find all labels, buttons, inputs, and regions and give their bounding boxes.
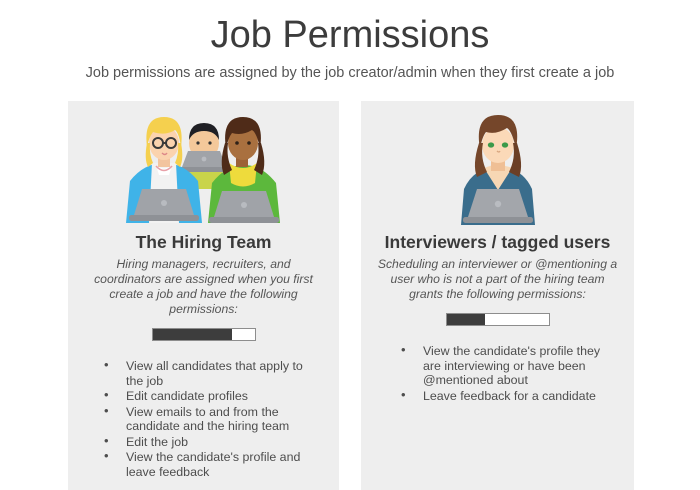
permission-list: View the candidate's profile they are in… (371, 344, 624, 404)
card-description: Hiring managers, recruiters, and coordin… (84, 257, 323, 317)
permission-card-interviewers: Interviewers / tagged users Scheduling a… (361, 101, 634, 490)
permission-list-item: View the candidate's profile and leave f… (104, 450, 321, 479)
permission-level-bar-fill (153, 329, 233, 340)
permission-level-bar-fill (447, 314, 486, 325)
card-heading: The Hiring Team (78, 231, 329, 253)
page-title: Job Permissions (0, 0, 700, 58)
permission-list-item: Leave feedback for a candidate (401, 389, 616, 404)
permission-level-bar (446, 313, 550, 326)
permission-list-item: Edit the job (104, 435, 321, 450)
permission-cards-container: The Hiring Team Hiring managers, recruit… (68, 101, 634, 490)
card-heading: Interviewers / tagged users (371, 231, 624, 253)
page-subtitle: Job permissions are assigned by the job … (0, 58, 700, 83)
permission-list: View all candidates that apply to the jo… (78, 359, 329, 480)
permission-list-item: Edit candidate profiles (104, 389, 321, 404)
job-permissions-page: Job Permissions Job permissions are assi… (0, 0, 700, 438)
single-person-with-laptop-icon (442, 113, 554, 225)
permission-level-bar (152, 328, 256, 341)
permission-list-item: View all candidates that apply to the jo… (104, 359, 321, 388)
permission-list-item: View the candidate's profile they are in… (401, 344, 616, 388)
card-description: Scheduling an interviewer or @mentioning… (377, 257, 618, 302)
permission-card-hiring-team: The Hiring Team Hiring managers, recruit… (68, 101, 339, 490)
permission-list-item: View emails to and from the candidate an… (104, 405, 321, 434)
three-people-with-laptops-icon (116, 113, 292, 225)
